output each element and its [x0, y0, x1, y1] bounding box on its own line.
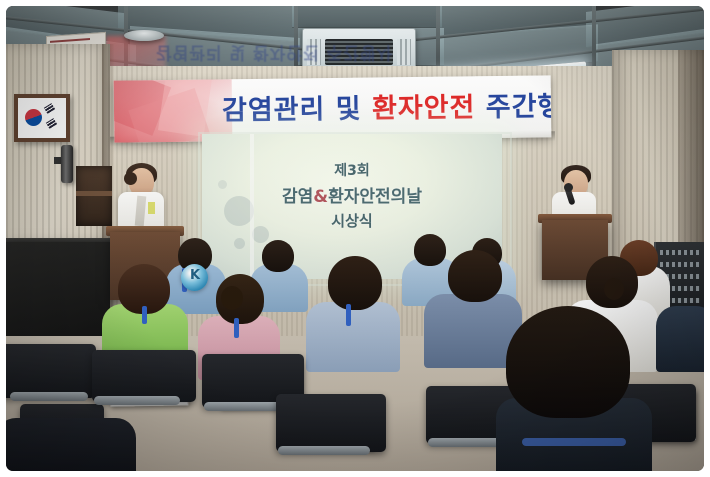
hair-bun: [604, 278, 624, 300]
audience-member-body: [306, 302, 400, 372]
trigram-icon: [44, 103, 55, 114]
audience-member-head: [448, 250, 502, 302]
audience-member-head: [262, 240, 294, 272]
auditorium-chair: [92, 350, 196, 402]
ceiling-reflected-banner-text: 감염관리 및 환자안전 주간행사: [156, 42, 393, 67]
slide-line-2-amp: &: [313, 187, 328, 207]
audience-member-body: [6, 418, 136, 471]
wall-alcove: [76, 166, 112, 226]
projection-screen-seam: [250, 134, 254, 279]
photo-frame: 감염관리 및 환자안전 주간행사 감염관리 및 환자안전 주간행사 제3회 감염…: [0, 0, 710, 477]
audience-member-head: [414, 234, 446, 266]
ceiling-dome-light: [124, 30, 164, 41]
slide-line-1: 제3회: [202, 160, 502, 180]
banner-title-part3: 주간행사: [475, 91, 551, 123]
slide-line-2-post: 환자안전의날: [328, 187, 422, 207]
chair-armrest: [278, 446, 370, 455]
event-photograph: 감염관리 및 환자안전 주간행사 감염관리 및 환자안전 주간행사 제3회 감염…: [6, 6, 704, 471]
auditorium-chair: [6, 344, 96, 398]
hospital-certification-logo: K: [181, 264, 208, 291]
alcove-shelf: [76, 191, 112, 196]
banner-title-part2: 환자안전: [372, 92, 476, 124]
presenter-left-hair-bun: [124, 172, 137, 185]
slide-line-2-pre: 감염: [282, 187, 313, 207]
audience-member-head: [328, 256, 382, 310]
trigram-icon: [46, 118, 57, 129]
id-lanyard: [142, 306, 147, 324]
microphone-head: [564, 183, 573, 192]
chair-armrest: [94, 396, 180, 405]
auditorium-chair: [276, 394, 386, 452]
banner-title-text: 감염관리 및 환자안전 주간행사: [222, 84, 552, 127]
id-lanyard: [346, 304, 351, 326]
audience-member-head: [506, 306, 630, 418]
logo-letter: K: [190, 268, 200, 283]
collar-trim: [522, 438, 626, 446]
slide-line-2: 감염&환자안전의날: [202, 182, 502, 207]
wall-mounted-speaker: [61, 145, 73, 183]
korean-national-flag: [14, 94, 70, 142]
taegeuk-symbol: [25, 109, 42, 126]
banner-title-part1: 감염관리 및: [222, 94, 372, 127]
presenter-left-id-badge: [148, 202, 155, 214]
slide-line-3: 시상식: [202, 210, 502, 231]
slide-bubble-decoration: [234, 238, 245, 249]
id-lanyard: [234, 318, 239, 338]
hair-bun: [221, 286, 243, 310]
chair-armrest: [10, 392, 88, 401]
audience-member-body: [656, 306, 704, 372]
